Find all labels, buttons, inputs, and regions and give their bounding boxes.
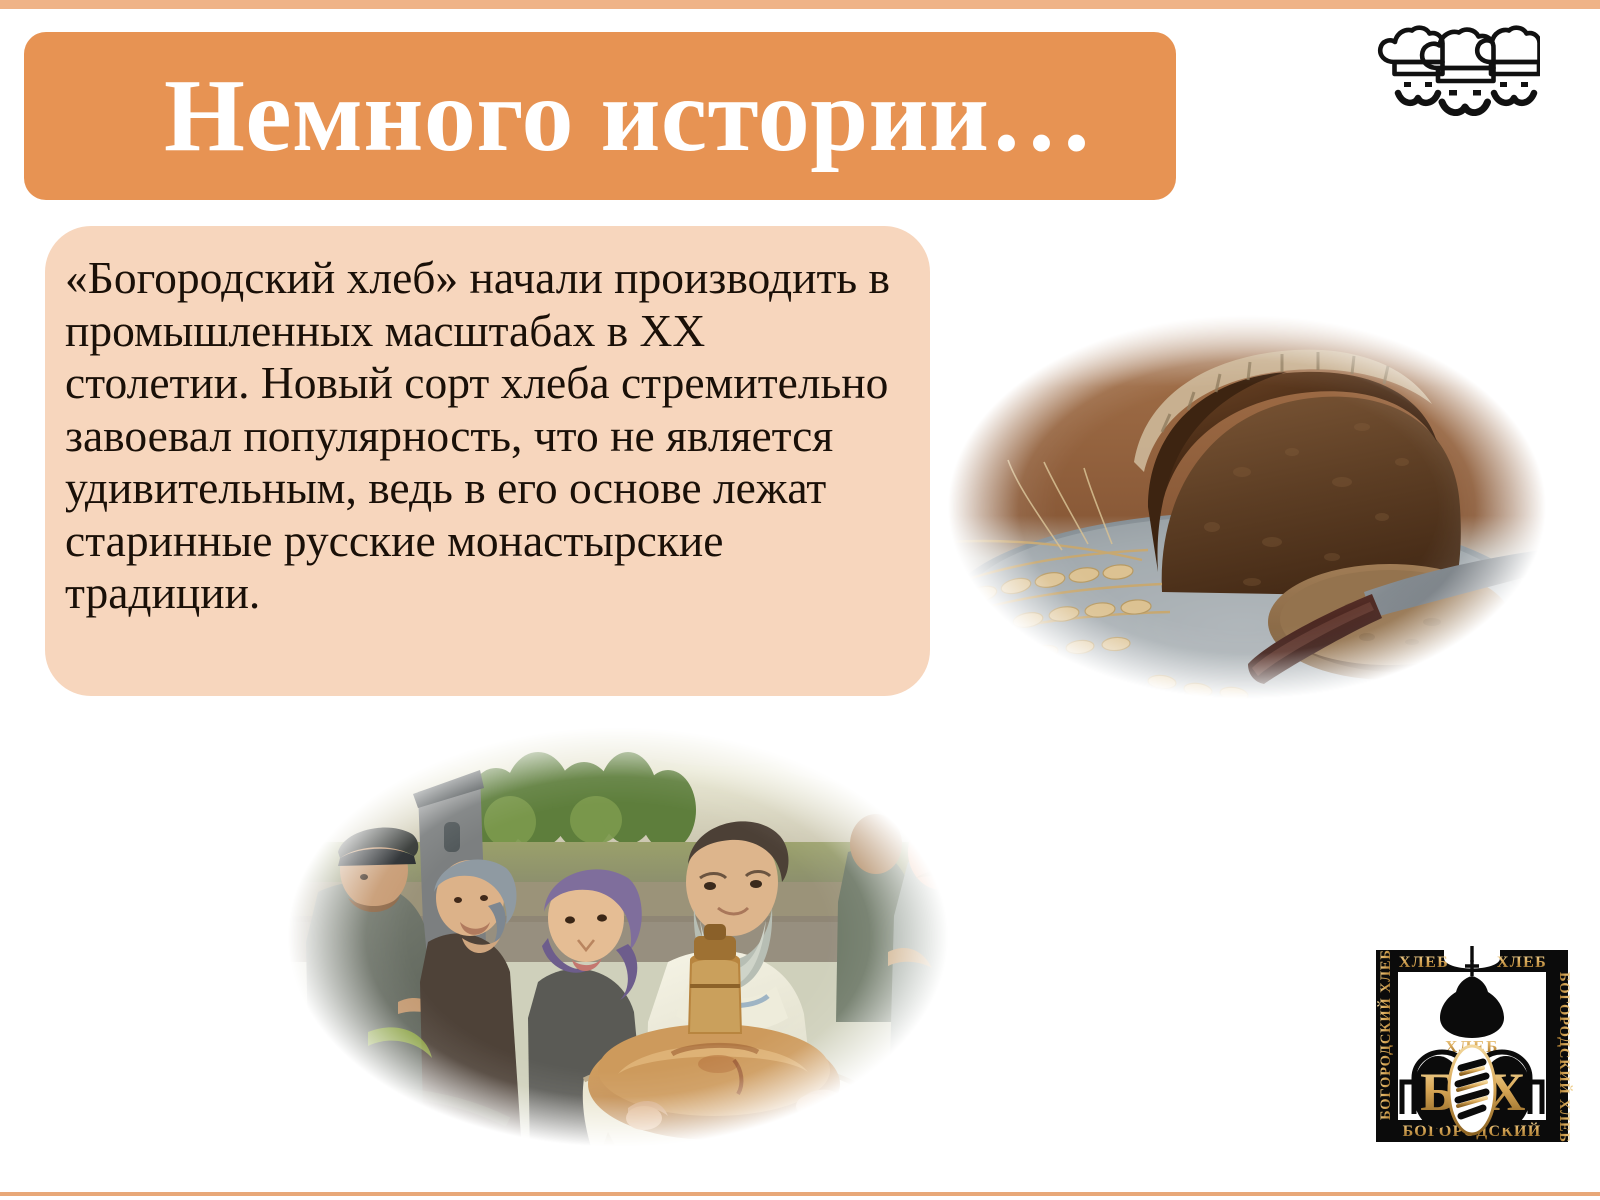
logo-right-side-word: БОГОРОДСКИЙ ХЛЕБ — [1556, 972, 1573, 1143]
slide-title-plate: Немного истории… — [24, 32, 1176, 200]
history-paragraph: «Богородский хлеб» начали производить в … — [65, 252, 900, 620]
history-text-card: «Богородский хлеб» начали производить в … — [45, 226, 930, 696]
slide-canvas: Немного истории… — [0, 0, 1600, 1200]
logo-top-right-word: ХЛЕБ — [1497, 954, 1547, 971]
rye-bread-photo — [912, 292, 1582, 722]
bottom-accent-rule — [0, 1192, 1600, 1196]
logo-left-side-word: БОГОРОДСКИЙ ХЛЕБ — [1377, 949, 1394, 1120]
logo-top-left-word: ХЛЕБ — [1399, 954, 1449, 971]
top-accent-band — [0, 0, 1600, 9]
chef-hats-icon — [1374, 24, 1540, 116]
peasants-bread-painting — [248, 702, 988, 1172]
page-title: Немного истории… — [164, 64, 1094, 168]
bogorodsky-hleb-logo: ХЛЕБ ХЛЕБ БОГОРОДСКИЙ БОГОРОДСКИЙ ХЛЕБ Б… — [1368, 942, 1576, 1150]
